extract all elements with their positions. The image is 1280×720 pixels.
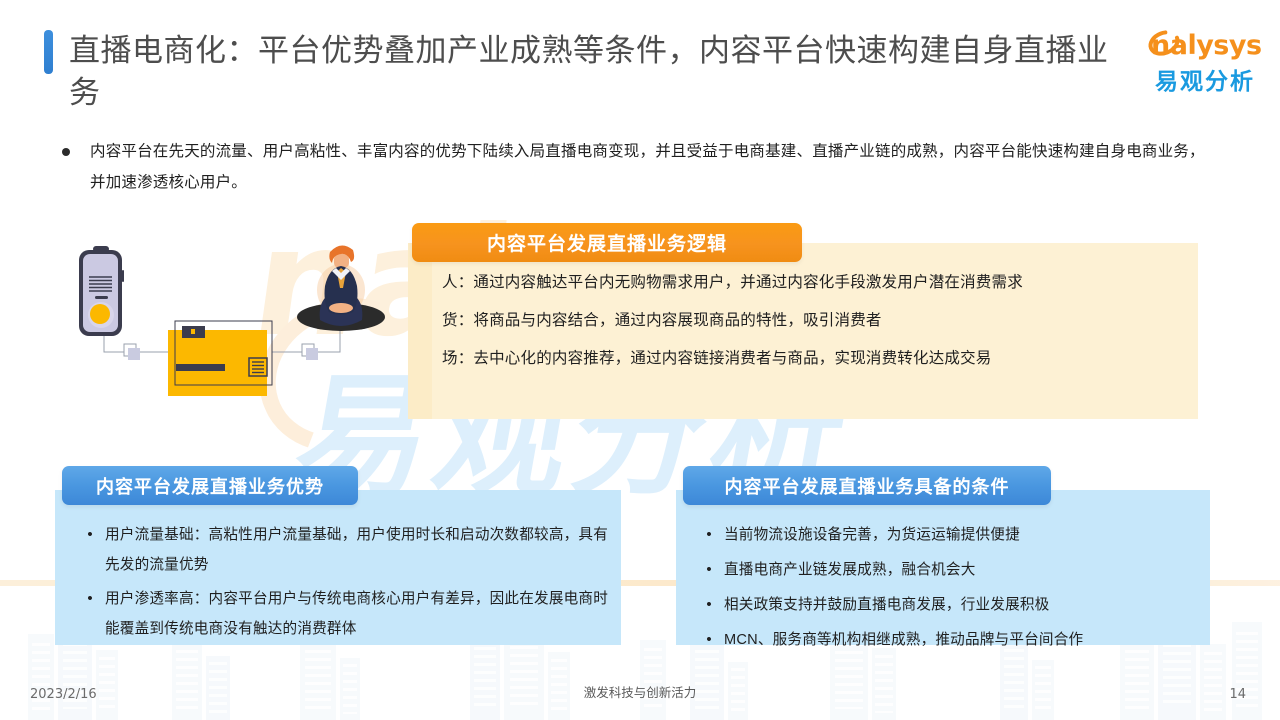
list-item: • 用户流量基础：高粘性用户流量基础，用户使用时长和启动次数都较高，具有先发的流… [75,520,615,580]
page-title: 直播电商化：平台优势叠加产业成熟等条件，内容平台快速构建自身直播业务 [44,30,1130,114]
lead-bullet: 内容平台在先天的流量、用户高粘性、丰富内容的优势下陆续入局直播电商变现，并且受益… [62,136,1218,198]
bullet-icon: • [694,590,724,621]
list-item-text: MCN、服务商等机构相继成熟，推动品牌与平台间合作 [724,625,1083,656]
slide-footer: 2023/2/16 激发科技与创新活力 14 [0,660,1280,720]
lead-text: 内容平台在先天的流量、用户高粘性、丰富内容的优势下陆续入局直播电商变现，并且受益… [90,136,1218,198]
list-item-text: 用户渗透率高：内容平台用户与传统电商核心用户有差异，因此在发展电商时能覆盖到传统… [105,584,615,644]
advantage-panel-header: 内容平台发展直播业务优势 [62,466,358,505]
package-box-icon [168,321,272,396]
title-accent-bar [44,30,53,74]
bullet-icon: • [75,520,105,580]
logic-panel-header-text: 内容平台发展直播业务逻辑 [487,229,727,256]
condition-list: • 当前物流设施设备完善，为货运运输提供便捷 • 直播电商产业链发展成熟，融合机… [694,520,1204,660]
slide-canvas: nalysys 易观分析 直播电商化：平台优势叠加产业成熟等条件，内容平台快速构… [0,0,1280,720]
bullet-icon: • [694,625,724,656]
bullet-icon: • [75,584,105,644]
list-item: • 直播电商产业链发展成熟，融合机会大 [694,555,1204,586]
bullet-icon: • [694,520,724,551]
logo-wordmark: nalysys [1151,30,1262,61]
logic-line: 场：去中心化的内容推荐，通过内容链接消费者与商品，实现消费转化达成交易 [442,340,1187,378]
bullet-dot-icon [62,148,70,156]
list-item-text: 用户流量基础：高粘性用户流量基础，用户使用时长和启动次数都较高，具有先发的流量优… [105,520,615,580]
logic-panel-header: 内容平台发展直播业务逻辑 [412,223,802,262]
bullet-icon: • [694,555,724,586]
footer-slogan: 激发科技与创新活力 [0,682,1280,701]
list-item-text: 当前物流设施设备完善，为货运运输提供便捷 [724,520,1020,551]
condition-panel-header-text: 内容平台发展直播业务具备的条件 [725,473,1010,499]
advantage-list: • 用户流量基础：高粘性用户流量基础，用户使用时长和启动次数都较高，具有先发的流… [75,520,615,648]
footer-page-number: 14 [1229,687,1246,702]
list-item: • MCN、服务商等机构相继成熟，推动品牌与平台间合作 [694,625,1204,656]
logo-chinese-name: 易观分析 [1155,62,1255,96]
logic-line: 人：通过内容触达平台内无购物需求用户，并通过内容化手段激发用户潜在消费需求 [442,264,1187,302]
list-item: • 当前物流设施设备完善，为货运运输提供便捷 [694,520,1204,551]
advantage-panel-header-text: 内容平台发展直播业务优势 [96,473,324,499]
title-text: 直播电商化：平台优势叠加产业成熟等条件，内容平台快速构建自身直播业务 [69,30,1130,114]
list-item: • 相关政策支持并鼓励直播电商发展，行业发展积极 [694,590,1204,621]
list-item-text: 直播电商产业链发展成熟，融合机会大 [724,555,976,586]
livestream-commerce-flow-illustration [62,232,392,422]
analysys-logo: nalysys 易观分析 [1137,28,1262,94]
logic-line: 货：将商品与内容结合，通过内容展现商品的特性，吸引消费者 [442,302,1187,340]
phone-icon [79,246,124,336]
list-item: • 用户渗透率高：内容平台用户与传统电商核心用户有差异，因此在发展电商时能覆盖到… [75,584,615,644]
logic-panel-lines: 人：通过内容触达平台内无购物需求用户，并通过内容化手段激发用户潜在消费需求 货：… [442,264,1187,378]
condition-panel-header: 内容平台发展直播业务具备的条件 [683,466,1051,505]
list-item-text: 相关政策支持并鼓励直播电商发展，行业发展积极 [724,590,1049,621]
seated-person-icon [297,245,385,331]
